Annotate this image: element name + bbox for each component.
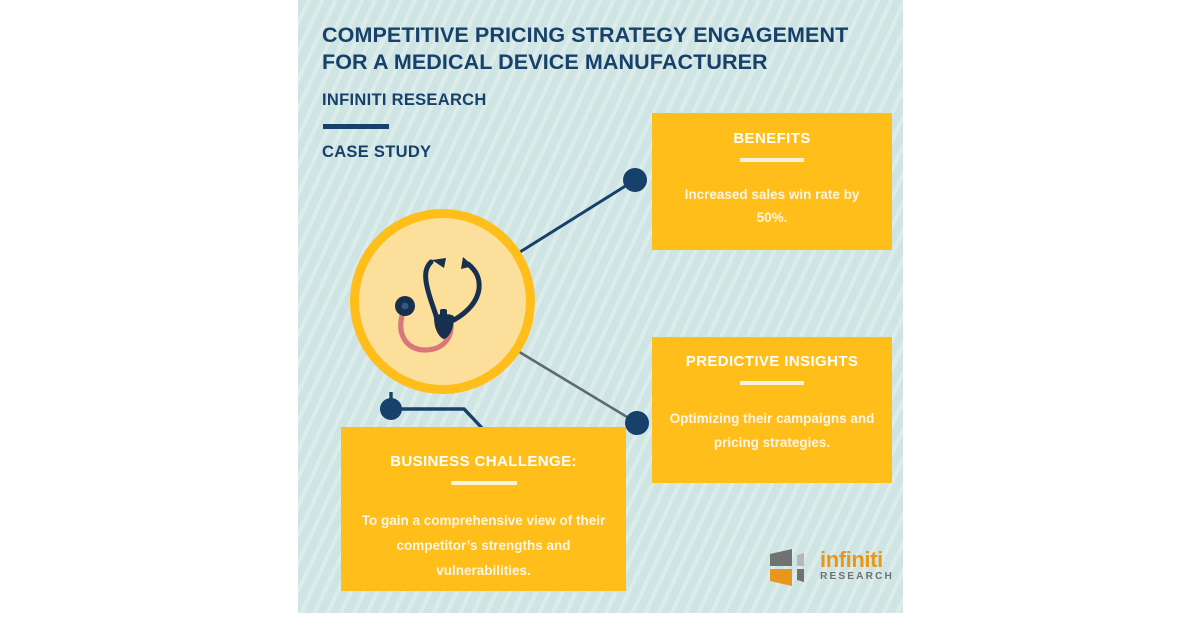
card-benefits[interactable]: BENEFITS Increased sales win rate by 50%… <box>652 113 892 250</box>
center-badge <box>350 209 535 394</box>
logo-mark-icon <box>768 548 816 588</box>
card-challenge-title: BUSINESS CHALLENGE: <box>341 427 626 470</box>
logo-tagline: RESEARCH <box>820 571 894 583</box>
company-name: INFINITI RESEARCH <box>322 91 487 110</box>
card-challenge-body: To gain a comprehensive view of their co… <box>341 485 626 583</box>
header-divider <box>323 124 389 129</box>
card-insights-title: PREDICTIVE INSIGHTS <box>652 337 892 370</box>
card-business-challenge[interactable]: BUSINESS CHALLENGE: To gain a comprehens… <box>341 427 626 591</box>
infographic-canvas: COMPETITIVE PRICING STRATEGY ENGAGEMENT … <box>298 0 903 613</box>
card-benefits-body: Increased sales win rate by 50%. <box>652 162 892 229</box>
connector-node-insights <box>625 411 649 435</box>
stethoscope-icon <box>350 209 535 394</box>
infographic-stage: COMPETITIVE PRICING STRATEGY ENGAGEMENT … <box>0 0 1200 627</box>
logo-text: infiniti RESEARCH <box>820 549 894 583</box>
logo-wordmark: infiniti <box>820 549 894 571</box>
card-insights-body: Optimizing their campaigns and pricing s… <box>652 385 892 455</box>
card-predictive-insights[interactable]: PREDICTIVE INSIGHTS Optimizing their cam… <box>652 337 892 483</box>
card-benefits-title: BENEFITS <box>652 113 892 147</box>
connector-node-challenge <box>380 398 402 420</box>
page-title: COMPETITIVE PRICING STRATEGY ENGAGEMENT … <box>322 22 892 76</box>
infiniti-research-logo: infiniti RESEARCH <box>768 546 880 592</box>
connector-node-benefits <box>623 168 647 192</box>
case-study-label: CASE STUDY <box>322 143 431 162</box>
